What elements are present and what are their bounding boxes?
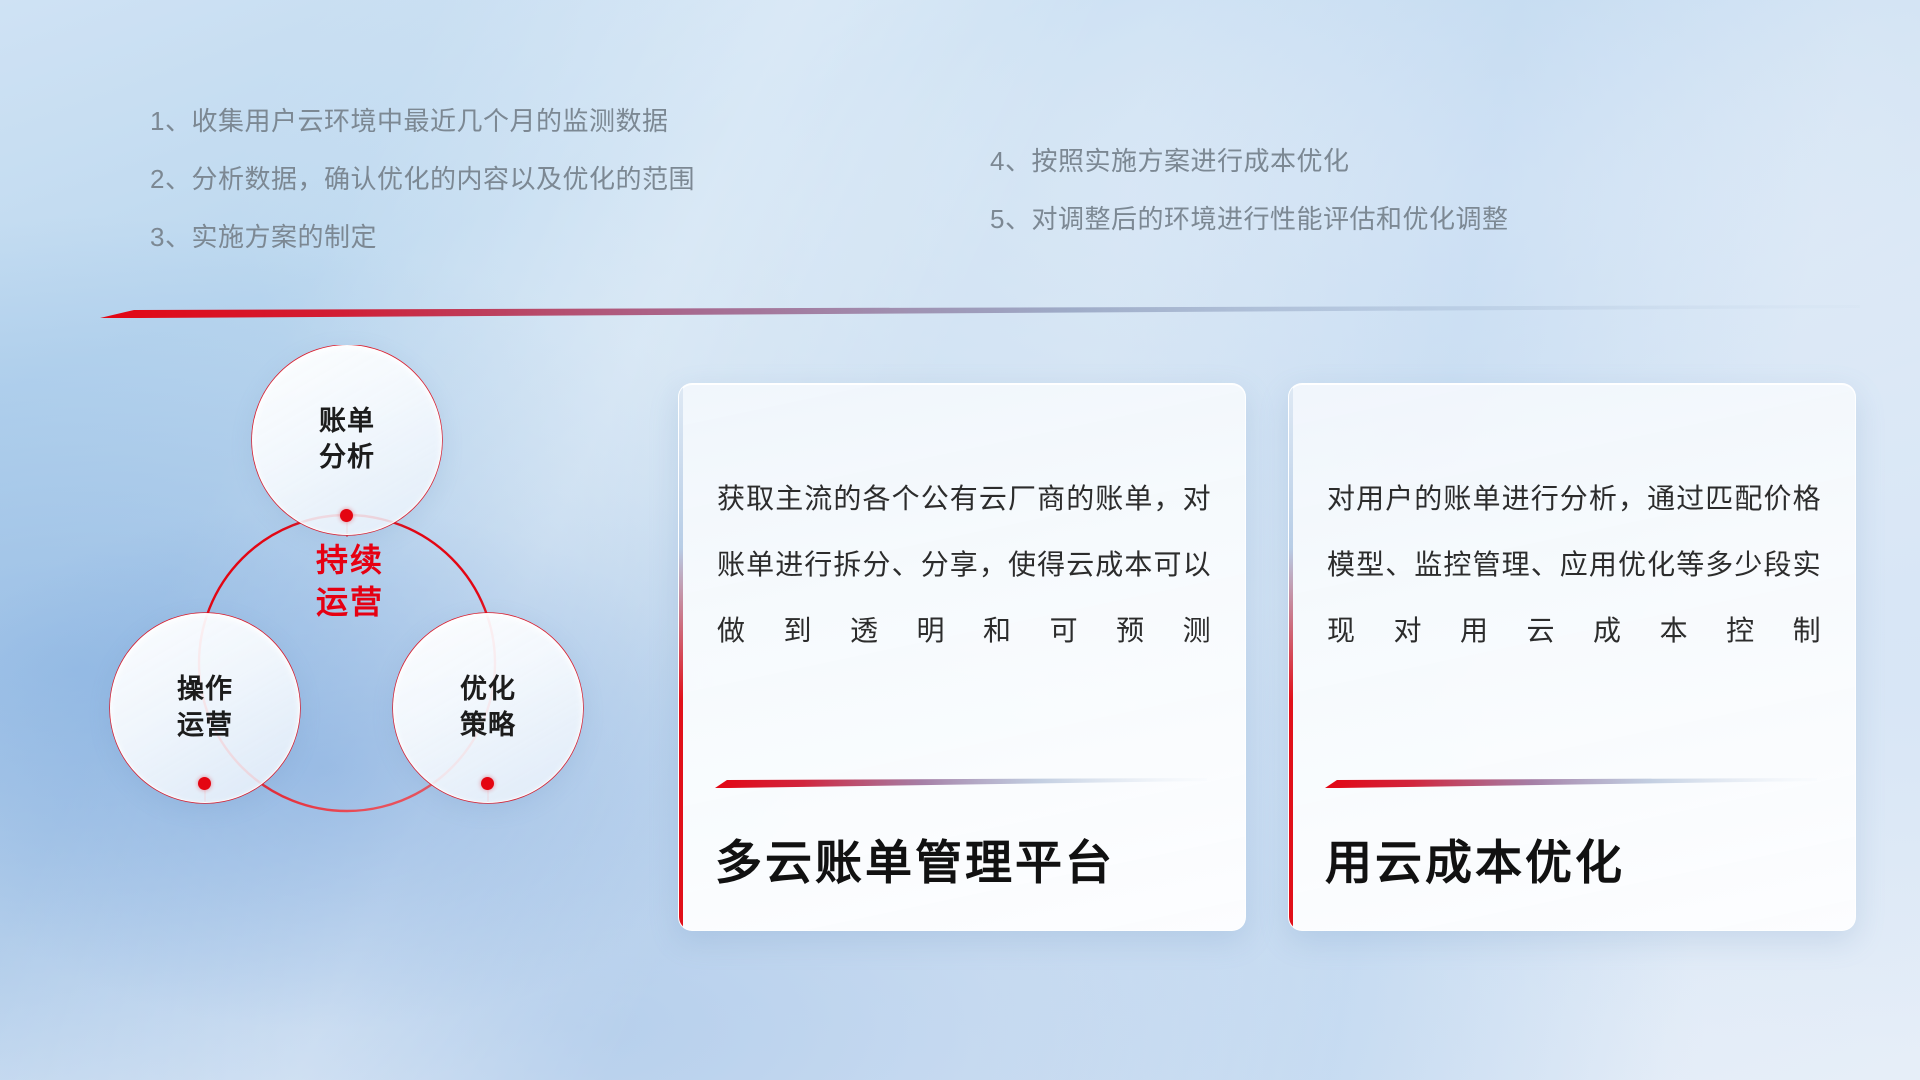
venn-node-left-label: 操作运营 (177, 672, 233, 743)
section-divider (100, 305, 1860, 319)
venn-node-operations[interactable]: 操作运营 (110, 613, 300, 803)
card-body-2: 对用户的账单进行分析，通过匹配价格模型、监控管理、应用优化等多少段实现对用云成本… (1327, 466, 1821, 664)
card-rule-shape (1325, 778, 1817, 789)
card-rule-1 (715, 776, 1207, 787)
venn-center-label: 持续 运营 (270, 540, 430, 623)
step-item-3: 3、实施方案的制定 (150, 224, 695, 250)
step-item-4: 4、按照实施方案进行成本优化 (990, 148, 1508, 174)
steps-list-left: 1、收集用户云环境中最近几个月的监测数据 2、分析数据，确认优化的内容以及优化的… (150, 108, 695, 282)
step-item-1: 1、收集用户云环境中最近几个月的监测数据 (150, 108, 695, 134)
venn-node-top-label: 账单分析 (319, 404, 375, 475)
card-description: 对用户的账单进行分析，通过匹配价格模型、监控管理、应用优化等多少段实现对用云成本… (1327, 466, 1821, 664)
venn-dot-top (340, 509, 353, 522)
card-rule-shape (715, 778, 1207, 789)
card-title: 多云账单管理平台 (715, 824, 1221, 893)
steps-list-right: 4、按照实施方案进行成本优化 5、对调整后的环境进行性能评估和优化调整 (990, 148, 1508, 264)
feature-card-multicloud-billing[interactable]: 获取主流的各个公有云厂商的账单，对账单进行拆分、分享，使得云成本可以做到透明和可… (678, 383, 1246, 931)
card-rule-2 (1325, 776, 1817, 787)
venn-node-billing-analysis[interactable]: 账单分析 (252, 345, 442, 535)
divider-shape (100, 305, 1860, 319)
feature-card-cloud-cost-optimization[interactable]: 对用户的账单进行分析，通过匹配价格模型、监控管理、应用优化等多少段实现对用云成本… (1288, 383, 1856, 931)
card-description: 获取主流的各个公有云厂商的账单，对账单进行拆分、分享，使得云成本可以做到透明和可… (717, 466, 1211, 664)
venn-diagram: 账单分析 操作运营 优化策略 持续 运营 (100, 345, 630, 945)
venn-center-line-2: 运营 (316, 584, 384, 620)
slide-root: 1、收集用户云环境中最近几个月的监测数据 2、分析数据，确认优化的内容以及优化的… (0, 0, 1920, 1080)
venn-dot-left (198, 777, 211, 790)
venn-node-optimization-strategy[interactable]: 优化策略 (393, 613, 583, 803)
venn-dot-right (481, 777, 494, 790)
card-body-1: 获取主流的各个公有云厂商的账单，对账单进行拆分、分享，使得云成本可以做到透明和可… (717, 466, 1211, 664)
venn-node-right-label: 优化策略 (460, 672, 516, 743)
card-left-accent-bar (679, 384, 683, 930)
card-title: 用云成本优化 (1325, 824, 1831, 893)
venn-center-line-1: 持续 (316, 542, 384, 578)
step-item-2: 2、分析数据，确认优化的内容以及优化的范围 (150, 166, 695, 192)
step-item-5: 5、对调整后的环境进行性能评估和优化调整 (990, 206, 1508, 232)
card-left-accent-bar (1289, 384, 1293, 930)
